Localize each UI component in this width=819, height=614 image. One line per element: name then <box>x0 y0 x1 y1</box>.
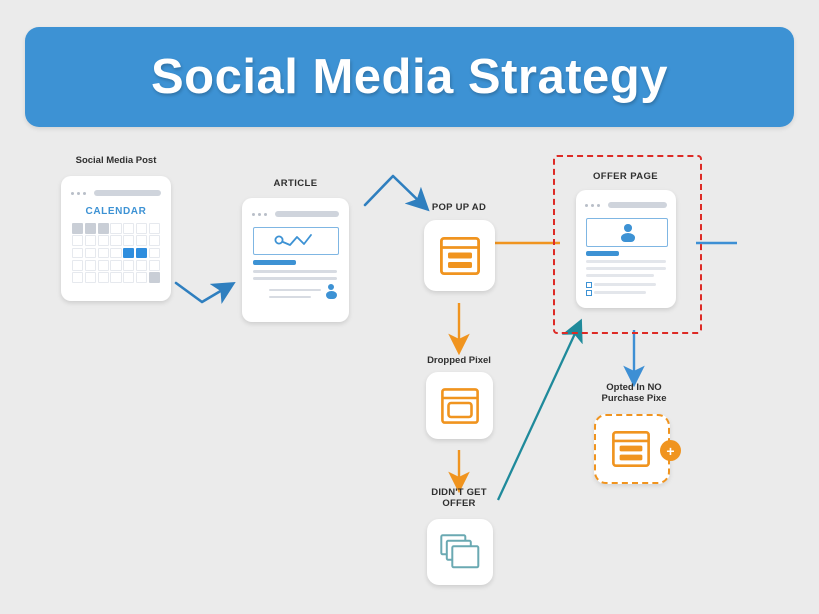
browser-dot <box>585 204 588 207</box>
user-avatar-icon <box>619 224 636 242</box>
node-label-article: ARTICLE <box>238 178 353 189</box>
calendar-title: CALENDAR <box>61 206 171 217</box>
connector-post-to-article <box>176 283 229 302</box>
add-pixel-badge[interactable]: + <box>660 440 681 461</box>
node-social-media-post[interactable]: Social Media Post CALENDAR <box>56 155 176 305</box>
article-heading-bar <box>253 260 296 265</box>
browser-dot <box>258 213 261 216</box>
node-pop-up-ad[interactable]: POP UP AD <box>405 202 513 304</box>
browser-dot <box>71 192 74 195</box>
node-opted-in-no-purchase-pixel[interactable]: Opted In NO Purchase Pixe + <box>578 382 690 492</box>
article-text-line <box>269 296 311 298</box>
diagram-canvas: Social Media Strategy <box>0 0 819 614</box>
popup-window-icon <box>612 431 650 467</box>
browser-url-bar <box>608 202 667 208</box>
offer-heading-bar <box>586 251 619 256</box>
node-article[interactable]: ARTICLE <box>238 178 353 323</box>
opted-in-pixel-tile <box>594 414 670 484</box>
title-banner: Social Media Strategy <box>25 27 794 127</box>
node-dropped-pixel[interactable]: Dropped Pixel <box>405 355 513 453</box>
offer-hero-box <box>586 218 668 247</box>
dropped-pixel-tile <box>426 372 493 439</box>
article-card <box>242 198 349 322</box>
popup-window-icon <box>440 237 480 275</box>
user-avatar-icon <box>324 284 338 300</box>
browser-dot <box>597 204 600 207</box>
article-chart-box <box>253 227 339 255</box>
didnt-get-offer-tile <box>427 519 493 585</box>
browser-dot <box>83 192 86 195</box>
node-didnt-get-offer[interactable]: DIDN'T GET OFFER <box>405 487 513 592</box>
social-media-post-card: CALENDAR <box>61 176 171 301</box>
article-text-line <box>253 277 337 280</box>
article-text-line <box>269 289 321 291</box>
pop-up-ad-tile <box>424 220 495 291</box>
calendar-grid <box>72 223 160 283</box>
calendar-browser-icon: CALENDAR <box>61 176 171 301</box>
node-label-didnt-get-offer: DIDN'T GET OFFER <box>405 487 513 509</box>
offer-checkbox <box>586 282 592 288</box>
offer-bullet-line <box>594 283 656 286</box>
browser-dot <box>77 192 80 195</box>
article-text-line <box>253 270 337 273</box>
offer-bullet-line <box>594 291 646 294</box>
line-chart-icon <box>254 228 338 254</box>
stacked-windows-icon <box>440 534 480 570</box>
offer-text-line <box>586 267 666 270</box>
node-label-pop-up-ad: POP UP AD <box>405 202 513 213</box>
node-label-dropped-pixel: Dropped Pixel <box>405 355 513 366</box>
browser-url-bar <box>94 190 161 196</box>
browser-dot <box>591 204 594 207</box>
offer-page-card <box>576 190 676 308</box>
pixel-window-icon <box>441 388 479 424</box>
node-offer-page[interactable]: OFFER PAGE <box>553 155 698 330</box>
page-title: Social Media Strategy <box>151 49 668 105</box>
offer-page-icon <box>576 190 676 308</box>
node-label-offer-page: OFFER PAGE <box>553 171 698 182</box>
browser-dot <box>264 213 267 216</box>
offer-text-line <box>586 260 666 263</box>
node-label-social-media-post: Social Media Post <box>48 155 184 166</box>
browser-url-bar <box>275 211 339 217</box>
browser-dot <box>252 213 255 216</box>
node-label-opted-in-no-purchase-pixel: Opted In NO Purchase Pixe <box>578 382 690 404</box>
offer-text-line <box>586 274 654 277</box>
offer-checkbox <box>586 290 592 296</box>
article-page-icon <box>242 198 349 322</box>
